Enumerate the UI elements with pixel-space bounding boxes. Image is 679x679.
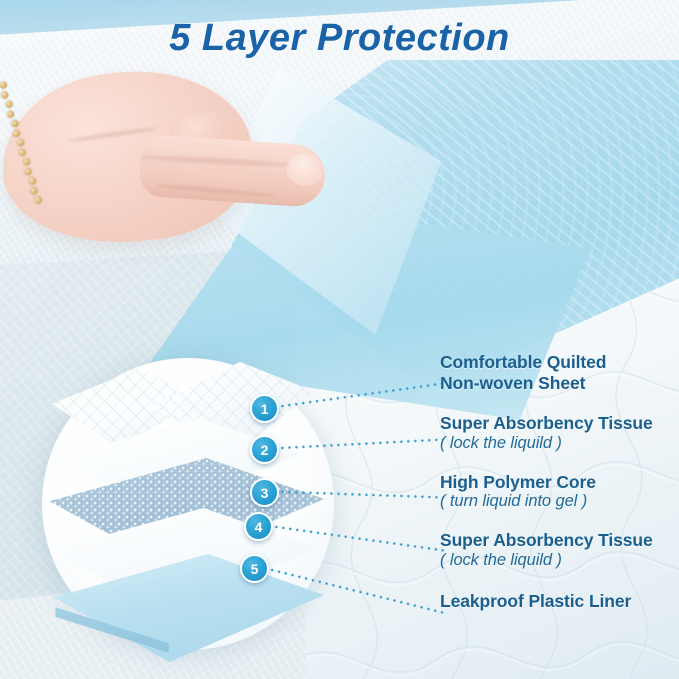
layer-badge-1[interactable]: 1 — [250, 394, 279, 423]
layer-label-3-sub: ( turn liquid into gel ) — [440, 492, 679, 512]
layer-label-2: Super Absorbency Tissue ( lock the liqui… — [440, 413, 679, 453]
layer-badge-3[interactable]: 3 — [250, 478, 279, 507]
layer-badge-5[interactable]: 5 — [240, 554, 269, 583]
layer-label-4-line1: Super Absorbency Tissue — [440, 530, 679, 551]
hand — [0, 62, 320, 312]
layer-label-4: Super Absorbency Tissue ( lock the liqui… — [440, 530, 679, 570]
layer-badge-4[interactable]: 4 — [244, 512, 273, 541]
layer-label-2-line1: Super Absorbency Tissue — [440, 413, 679, 434]
layer-label-3: High Polymer Core ( turn liquid into gel… — [440, 472, 679, 512]
layer-label-5: Leakproof Plastic Liner — [440, 591, 679, 612]
layer-label-1-line2: Non-woven Sheet — [440, 373, 679, 394]
infographic-stage: 1 2 3 4 5 5 Layer Protection Comfortable… — [0, 0, 679, 679]
page-title: 5 Layer Protection — [0, 17, 679, 60]
layer-label-1: Comfortable Quilted Non-woven Sheet — [440, 352, 679, 393]
layer-label-3-line1: High Polymer Core — [440, 472, 679, 493]
exploded-layer-stack — [42, 358, 382, 658]
layer-label-list: Comfortable Quilted Non-woven Sheet Supe… — [440, 352, 679, 624]
layer-label-5-line1: Leakproof Plastic Liner — [440, 591, 679, 612]
layer-badge-2[interactable]: 2 — [250, 435, 279, 464]
layer-label-1-line1: Comfortable Quilted — [440, 352, 679, 373]
layer-label-4-sub: ( lock the liquild ) — [440, 551, 679, 571]
layer-label-2-sub: ( lock the liquild ) — [440, 434, 679, 454]
